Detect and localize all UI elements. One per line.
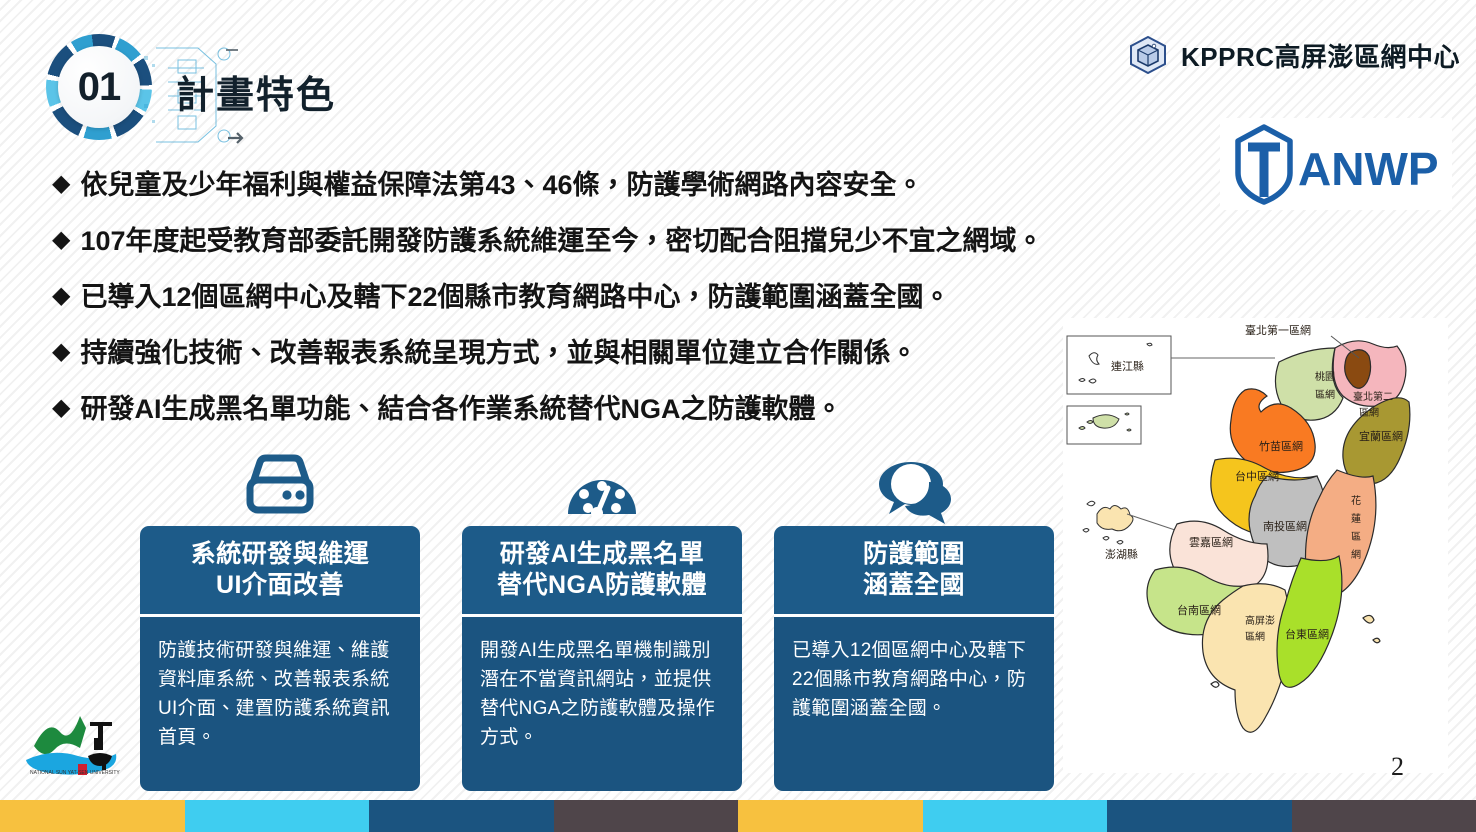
speech-bubbles-icon: [871, 454, 957, 526]
bullet-marker-icon: ◆: [52, 280, 70, 312]
tanwp-wordmark: ANWP: [1298, 143, 1439, 195]
map-label-hualien-3: 區: [1351, 531, 1361, 543]
map-label-hualien-4: 網: [1351, 548, 1361, 561]
bullet-marker-icon: ◆: [52, 224, 70, 256]
taiwan-regional-network-map: 連江縣 澎湖縣: [1063, 318, 1448, 773]
card-body-text: 已導入12個區網中心及轄下22個縣市教育網路中心，防護範圍涵蓋全國。: [774, 617, 1054, 791]
map-label-taipei2-2: 區網: [1359, 406, 1379, 419]
section-number-badge: 01: [18, 20, 188, 150]
slide-canvas: 01 計畫特色: [0, 0, 1476, 832]
bullet-marker-icon: ◆: [52, 392, 70, 424]
card-title-line1: 防護範圍: [782, 539, 1046, 570]
map-label-yilan: 宜蘭區網: [1359, 429, 1403, 443]
map-label-nantou: 南投區網: [1263, 519, 1307, 533]
feature-card-coverage: 防護範圍 涵蓋全國 已導入12個區網中心及轄下22個縣市教育網路中心，防護範圍涵…: [774, 526, 1054, 791]
map-label-yunjia: 雲嘉區網: [1189, 535, 1233, 549]
organization-branding: KPPRC高屏澎區網中心: [1125, 32, 1460, 78]
card-title-line2: UI介面改善: [148, 570, 412, 601]
badge-inner-circle: 01: [58, 46, 140, 128]
page-title: 計畫特色: [176, 64, 336, 119]
card-title-line2: 涵蓋全國: [782, 570, 1046, 601]
bullet-text: 持續強化技術、改善報表系統呈現方式，並與相關單位建立合作關係。: [80, 336, 917, 370]
tanwp-shield-icon: ANWP: [1224, 121, 1448, 207]
page-number: 2: [1391, 752, 1404, 782]
map-inset-kinmen: [1067, 406, 1141, 444]
svg-text:NATIONAL SUN YAT-SEN UNIVERSIT: NATIONAL SUN YAT-SEN UNIVERSITY: [30, 770, 120, 776]
card-title: 系統研發與維運 UI介面改善: [140, 526, 420, 614]
card-icon-wrapper: [774, 446, 1054, 526]
cube-logo-icon: [1125, 32, 1171, 78]
card-body-text: 防護技術研發與維運、維護資料庫系統、改善報表系統UI介面、建置防護系統資訊首頁。: [140, 617, 420, 791]
bullet-item: ◆ 研發AI生成黑名單功能、結合各作業系統替代NGA之防護軟體。: [52, 392, 1082, 426]
school-mountain-water-logo: NATIONAL SUN YAT-SEN UNIVERSITY: [20, 694, 132, 780]
organization-name: KPPRC高屏澎區網中心: [1181, 37, 1460, 74]
map-callout-label: 臺北第一區網: [1245, 323, 1311, 337]
gauge-speedometer-icon: [564, 454, 640, 526]
slide-header: 01 計畫特色: [0, 0, 1476, 150]
map-label-taoyuan-1: 桃園: [1315, 370, 1335, 383]
map-label-gaoping-2: 區網: [1245, 630, 1265, 643]
map-label-penghu: 澎湖縣: [1105, 547, 1138, 561]
map-inset-label-lianjiang: 連江縣: [1111, 359, 1144, 373]
map-label-zhumiao: 竹苗區網: [1259, 439, 1303, 453]
card-title-line1: 研發AI生成黑名單: [470, 539, 734, 570]
footer-bar-segment: [0, 800, 185, 832]
feature-card-ai-blacklist: 研發AI生成黑名單 替代NGA防護軟體 開發AI生成黑名單機制識別潛在不當資訊網…: [462, 526, 742, 791]
footer-bar-segment: [554, 800, 739, 832]
map-label-tainan: 台南區網: [1177, 603, 1221, 617]
map-label-hualien-2: 蓮: [1351, 512, 1361, 525]
bullet-marker-icon: ◆: [52, 336, 70, 368]
card-title-line2: 替代NGA防護軟體: [470, 570, 734, 601]
footer-bar-segment: [923, 800, 1108, 832]
bullet-item: ◆ 107年度起受教育部委託開發防護系統維運至今，密切配合阻擋兒少不宜之網域。: [52, 224, 1082, 258]
map-label-taipei2-1: 臺北第二: [1353, 390, 1393, 403]
bullet-item: ◆ 依兒童及少年福利與權益保障法第43、46條，防護學術網路內容安全。: [52, 168, 1082, 202]
card-title: 研發AI生成黑名單 替代NGA防護軟體: [462, 526, 742, 614]
server-storage-icon: [242, 454, 318, 526]
map-svg: 連江縣 澎湖縣: [1063, 318, 1448, 773]
footer-bar-segment: [738, 800, 923, 832]
card-icon-wrapper: [462, 446, 742, 526]
bullet-marker-icon: ◆: [52, 168, 70, 200]
map-label-taitung: 台東區網: [1285, 627, 1329, 641]
tanwp-logo: ANWP: [1220, 118, 1452, 210]
bullet-item: ◆ 已導入12個區網中心及轄下22個縣市教育網路中心，防護範圍涵蓋全國。: [52, 280, 1082, 314]
map-label-hualien-1: 花: [1351, 494, 1361, 507]
footer-bar-segment: [369, 800, 554, 832]
feature-card-system-development: 系統研發與維運 UI介面改善 防護技術研發與維運、維護資料庫系統、改善報表系統U…: [140, 526, 420, 791]
card-title-line1: 系統研發與維運: [148, 539, 412, 570]
card-icon-wrapper: [140, 446, 420, 526]
badge-number-text: 01: [78, 67, 121, 107]
card-body-text: 開發AI生成黑名單機制識別潛在不當資訊網站，並提供替代NGA之防護軟體及操作方式…: [462, 617, 742, 791]
footer-bar-segment: [185, 800, 370, 832]
feature-card-group: 系統研發與維運 UI介面改善 防護技術研發與維運、維護資料庫系統、改善報表系統U…: [140, 448, 1065, 780]
bullet-text: 依兒童及少年福利與權益保障法第43、46條，防護學術網路內容安全。: [80, 168, 923, 202]
card-title: 防護範圍 涵蓋全國: [774, 526, 1054, 614]
footer-bar-segment: [1107, 800, 1292, 832]
bullet-text: 研發AI生成黑名單功能、結合各作業系統替代NGA之防護軟體。: [80, 392, 842, 426]
bullet-text: 107年度起受教育部委託開發防護系統維運至今，密切配合阻擋兒少不宜之網域。: [80, 224, 1043, 258]
map-label-taichung: 台中區網: [1235, 469, 1279, 483]
map-label-taoyuan-2: 區網: [1315, 388, 1335, 401]
map-label-gaoping-1: 高屏澎: [1245, 614, 1275, 627]
bullet-list: ◆ 依兒童及少年福利與權益保障法第43、46條，防護學術網路內容安全。 ◆ 10…: [52, 168, 1082, 448]
footer-bar-segment: [1292, 800, 1476, 832]
bullet-item: ◆ 持續強化技術、改善報表系統呈現方式，並與相關單位建立合作關係。: [52, 336, 1082, 370]
footer-color-bar: [0, 800, 1476, 832]
bullet-text: 已導入12個區網中心及轄下22個縣市教育網路中心，防護範圍涵蓋全國。: [80, 280, 950, 314]
